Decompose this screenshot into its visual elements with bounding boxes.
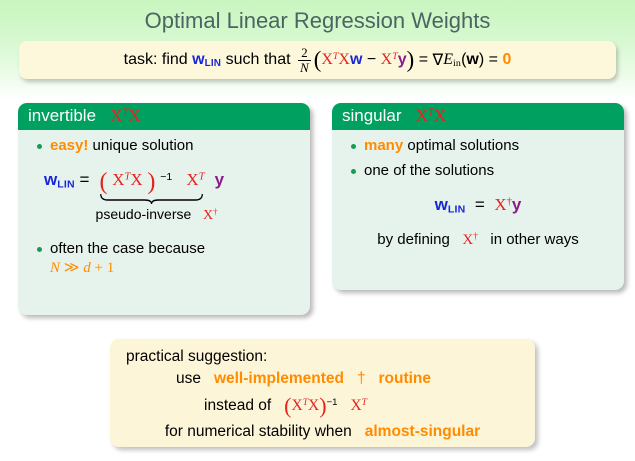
suggestion-line-3: instead of (XTX)−1 XT <box>120 390 525 421</box>
pseudo-inverse-label-math: X† <box>203 208 217 223</box>
panel-singular-body: many optimal solutions one of the soluti… <box>332 130 624 259</box>
task-banner: task: find wLIN such that 2 N ( XTX w − … <box>19 41 616 79</box>
singular-bullet-list: many optimal solutions one of the soluti… <box>342 137 614 181</box>
panel-singular: singular XTX many optimal solutions one … <box>332 103 624 290</box>
task-y-vector: y <box>398 51 407 69</box>
task-equals-2: = <box>489 51 498 69</box>
bullet-often-line1: often the case because <box>50 240 205 257</box>
task-minus: − <box>367 51 376 69</box>
task-nabla: ∇ <box>432 50 443 70</box>
panel-invertible-header-label: invertible <box>28 106 96 125</box>
singular-wlin-equation: wLIN = X†y <box>342 195 614 215</box>
wlin-formula: wLIN = ( XTX ) −1 XT <box>44 168 224 196</box>
suggestion-almost-singular: almost-singular <box>365 423 480 440</box>
task-E-arg: w <box>466 51 478 69</box>
suggestion-well-implemented: well-implemented <box>214 370 344 387</box>
task-XT-X: XTX <box>321 51 350 69</box>
pi-XT: XT <box>186 170 204 189</box>
task-close-paren: ) <box>407 47 415 73</box>
singular-note-suffix: in other ways <box>490 231 578 248</box>
task-such-that: such that <box>226 51 291 69</box>
list-item: often the case because N ≫ d + 1 <box>28 240 300 278</box>
pi-XT-X: XTX <box>112 170 142 189</box>
singular-note-math: X† <box>462 232 478 248</box>
task-prefix: task: find <box>124 51 188 69</box>
task-w-vector: w <box>350 51 362 69</box>
cut-off-top-text: · · · <box>0 0 635 3</box>
underbrace <box>99 190 204 202</box>
bullet-easy-rest: unique solution <box>93 137 194 154</box>
task-equals-1: = <box>419 51 428 69</box>
dagger-icon: † <box>357 370 366 387</box>
panel-invertible-header: invertible XTX <box>18 103 310 130</box>
pseudo-inverse-label: pseudo-inverse X† <box>81 206 231 224</box>
sg-exponent: −1 <box>327 397 338 408</box>
panel-singular-header-label: singular <box>342 106 402 125</box>
singular-wlin-symbol: wLIN <box>435 195 466 214</box>
panel-singular-header: singular XTX <box>332 103 624 130</box>
practical-suggestion-box: practical suggestion: use well-implement… <box>110 339 535 447</box>
sg-XT: XT <box>350 397 367 414</box>
pseudo-inverse-group: ( XTX ) −1 XT pseudo-inverse <box>99 168 204 196</box>
sg-XT-X: XTX <box>291 397 319 414</box>
list-item: many optimal solutions <box>342 137 614 156</box>
page-title: Optimal Linear Regression Weights <box>0 8 635 34</box>
panel-invertible-header-math: XTX <box>110 106 140 125</box>
suggestion-line-4: for numerical stability when almost-sing… <box>120 421 525 443</box>
singular-y-vector: y <box>512 195 521 214</box>
pseudo-inverse-label-text: pseudo-inverse <box>96 206 192 222</box>
wlin-y-vector: y <box>215 170 224 190</box>
bullet-one-of-solutions: one of the solutions <box>364 162 494 179</box>
task-fraction: 2 N <box>298 46 311 73</box>
suggestion-routine: routine <box>379 370 432 387</box>
suggestion-use: use <box>176 370 201 387</box>
suggestion-line-2: use well-implemented † routine <box>120 368 525 390</box>
suggestion-stability-prefix: for numerical stability when <box>165 423 352 440</box>
pi-exponent: −1 <box>160 171 172 183</box>
wlin-formula-block: wLIN = ( XTX ) −1 XT <box>28 162 300 240</box>
task-Ein: Ein <box>443 51 461 69</box>
task-open-paren: ( <box>314 47 322 73</box>
panel-invertible-body: easy! unique solution wLIN = ( XTX ) −1 … <box>18 130 310 291</box>
singular-equals: = <box>475 195 485 214</box>
list-item: easy! unique solution <box>28 137 300 156</box>
invertible-bullet-list: easy! unique solution <box>28 137 300 156</box>
wlin-symbol: wLIN <box>44 170 75 190</box>
task-zero: 0 <box>502 51 511 69</box>
list-item: one of the solutions <box>342 162 614 181</box>
bullet-easy-strong: easy! <box>50 137 88 154</box>
slide-canvas: · · · Optimal Linear Regression Weights … <box>0 0 635 461</box>
bullet-many-rest: optimal solutions <box>407 137 519 154</box>
bullet-often-line2: N ≫ d + 1 <box>50 260 114 276</box>
task-XT-2: XT <box>381 51 398 69</box>
suggestion-instead-of: instead of <box>204 397 271 414</box>
task-w-symbol: wLIN <box>192 51 221 69</box>
panel-invertible: invertible XTX easy! unique solution wLI… <box>18 103 310 315</box>
suggestion-line-1: practical suggestion: <box>120 346 525 368</box>
sg-rparen: ) <box>319 393 326 418</box>
singular-note-prefix: by defining <box>377 231 450 248</box>
bullet-many-strong: many <box>364 137 403 154</box>
panel-singular-header-math: XTX <box>416 106 446 125</box>
singular-X-dagger: X† <box>494 195 512 214</box>
wlin-equals: = <box>80 170 90 190</box>
invertible-bullet-list-2: often the case because N ≫ d + 1 <box>28 240 300 278</box>
task-statement: task: find wLIN such that 2 N ( XTX w − … <box>124 46 512 73</box>
singular-note: by defining X† in other ways <box>342 231 614 249</box>
